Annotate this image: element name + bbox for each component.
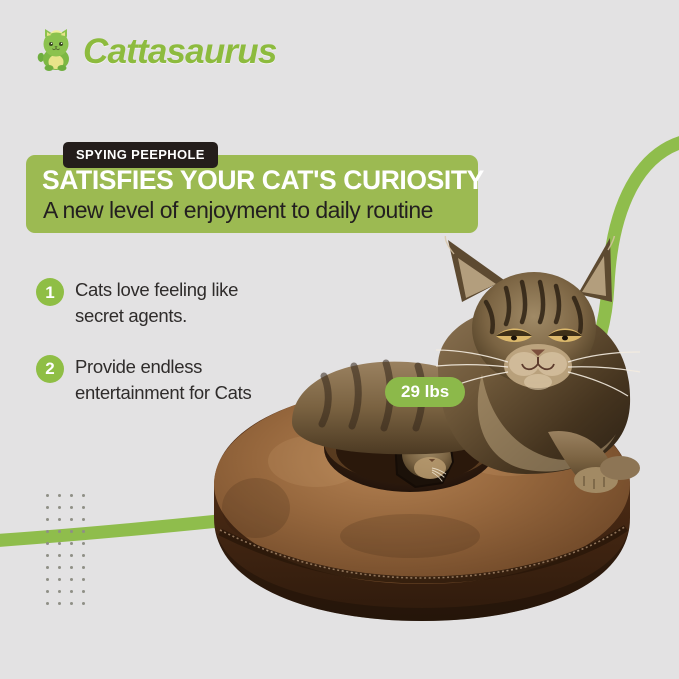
weight-capacity-badge: 29 lbs [385, 377, 465, 407]
product-infographic: Cattasaurus SATISFIES YOUR CAT'S CURIOSI… [0, 0, 679, 679]
bullet-text-1: Cats love feeling like secret agents. [75, 277, 286, 330]
dot-grid-decoration [46, 494, 94, 614]
list-item: 1 Cats love feeling like secret agents. [36, 277, 286, 330]
feature-list: 1 Cats love feeling like secret agents. … [36, 277, 286, 430]
brand-logo: Cattasaurus [35, 28, 277, 74]
banner-subtitle: A new level of enjoyment to daily routin… [43, 199, 433, 222]
banner-title: SATISFIES YOUR CAT'S CURIOSITY [42, 167, 484, 194]
bullet-text-2: Provide endless entertainment for Cats [75, 354, 286, 407]
cat-mascot-icon [35, 28, 77, 74]
bullet-number-2: 2 [36, 355, 64, 383]
bullet-number-1: 1 [36, 278, 64, 306]
brand-name: Cattasaurus [83, 34, 277, 69]
feature-tag-badge: SPYING PEEPHOLE [63, 142, 218, 168]
list-item: 2 Provide endless entertainment for Cats [36, 354, 286, 407]
